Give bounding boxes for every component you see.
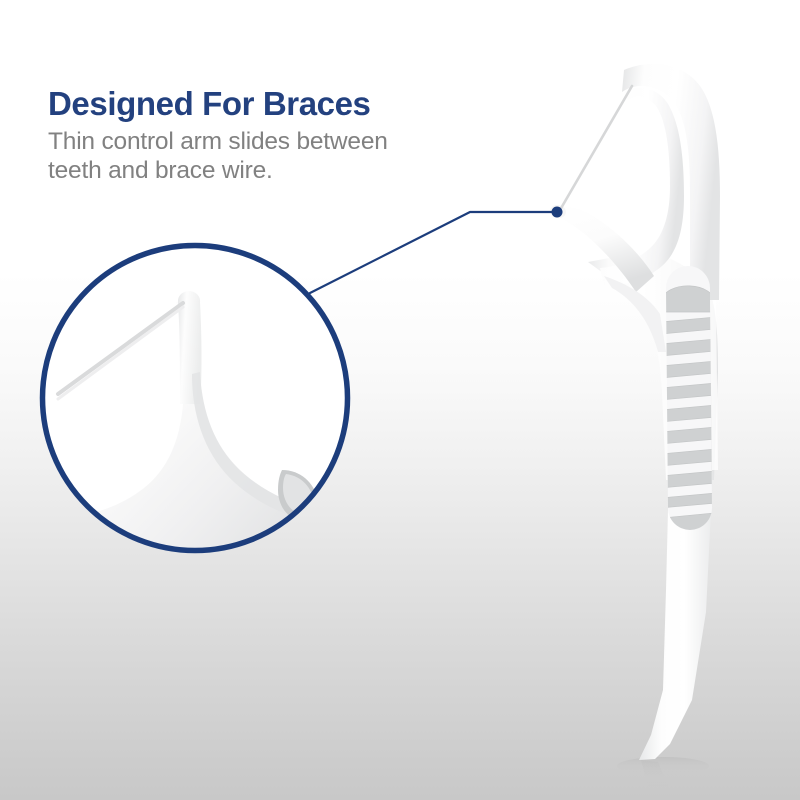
callout-leader-line [310,212,552,293]
headline-block: Designed For Braces Thin control arm sli… [48,84,518,185]
page-title: Designed For Braces [48,84,518,124]
floss-thread [560,86,632,210]
product-reflection [617,757,709,795]
subtitle-line-2: teeth and brace wire. [48,157,273,184]
floss-pick-body [549,64,720,760]
subtitle: Thin control arm slides between teeth an… [48,124,518,185]
subtitle-line-1: Thin control arm slides between [48,128,388,155]
callout-anchor-dot [552,207,563,218]
product-feature-image: Designed For Braces Thin control arm sli… [0,0,800,800]
magnifier-callout [40,207,563,577]
grip-ridges [660,286,716,536]
textured-grip-panel [660,266,716,536]
